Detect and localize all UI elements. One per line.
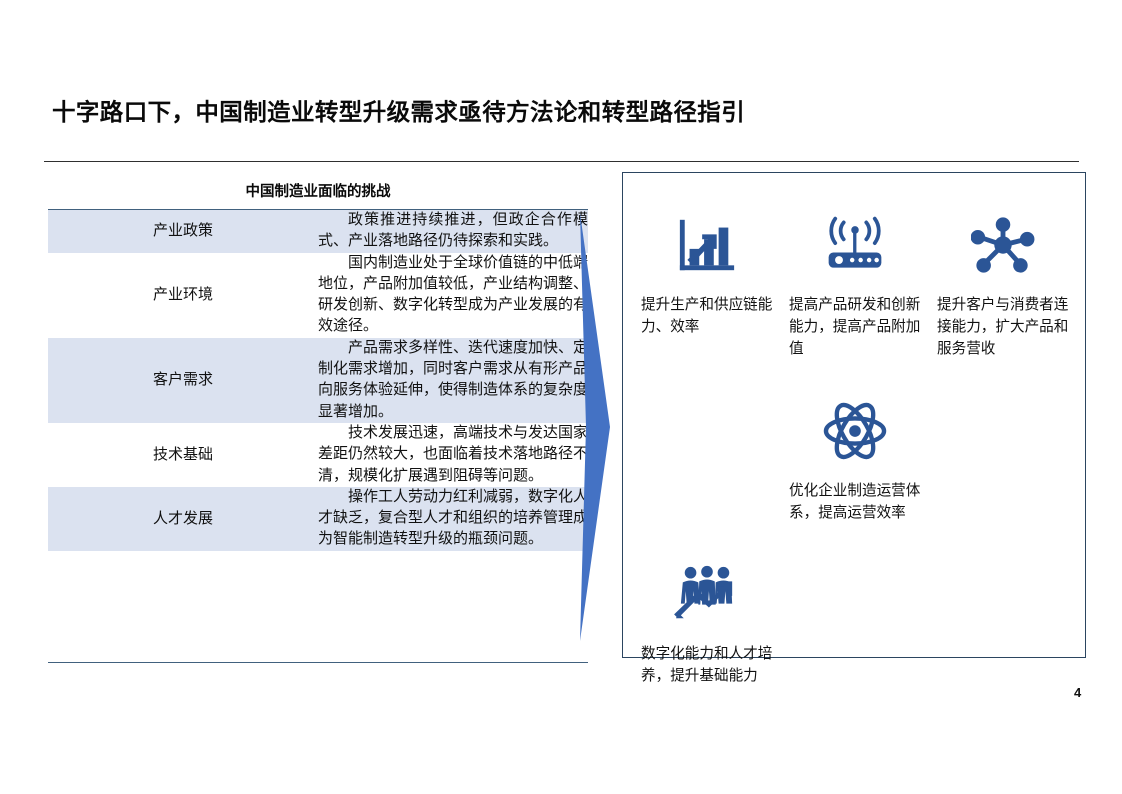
- page-number: 4: [1074, 685, 1081, 700]
- row-description: 产品需求多样性、迭代速度加快、定制化需求增加，同时客户需求从有形产品向服务体验延…: [318, 338, 588, 423]
- grid-spacer: [929, 361, 1077, 525]
- goal-label: 优化企业制造运营体系，提高运营效率: [789, 481, 921, 525]
- goal-label: 提高产品研发和创新能力，提高产品附加值: [789, 295, 921, 361]
- row-description: 政策推进持续推进，但政企合作模式、产业落地路径仍待探索和实践。: [318, 210, 588, 253]
- table-row: 客户需求 产品需求多样性、迭代速度加快、定制化需求增加，同时客户需求从有形产品向…: [48, 338, 588, 423]
- transition-arrow: [576, 213, 612, 641]
- wireless-router-icon: [789, 207, 921, 283]
- atom-icon: [789, 393, 921, 469]
- title-block: 十字路口下，中国制造业转型升级需求亟待方法论和转型路径指引: [52, 97, 842, 130]
- goal-item-operations-optimization: 优化企业制造运营体系，提高运营效率: [781, 393, 929, 525]
- row-category: 技术基础: [48, 423, 318, 487]
- network-hub-icon: [937, 207, 1069, 283]
- goal-label: 提升客户与消费者连接能力，扩大产品和服务营收: [937, 295, 1069, 361]
- table-bottom-divider: [48, 662, 588, 663]
- page-title: 十字路口下，中国制造业转型升级需求亟待方法论和转型路径指引: [52, 97, 842, 130]
- goal-item-customer-connection: 提升客户与消费者连接能力，扩大产品和服务营收: [929, 207, 1077, 361]
- row-description: 操作工人劳动力红利减弱，数字化人才缺乏，复合型人才和组织的培养管理成为智能制造转…: [318, 487, 588, 551]
- goal-label: 提升生产和供应链能力、效率: [641, 295, 773, 339]
- challenges-table: 中国制造业面临的挑战 产业政策 政策推进持续推进，但政企合作模式、产业落地路径仍…: [48, 173, 588, 551]
- bar-chart-growth-icon: [641, 207, 773, 283]
- table-body: 产业政策 政策推进持续推进，但政企合作模式、产业落地路径仍待探索和实践。 产业环…: [48, 210, 588, 551]
- goal-item-rnd-innovation: 提高产品研发和创新能力，提高产品附加值: [781, 207, 929, 361]
- table-row: 产业政策 政策推进持续推进，但政企合作模式、产业落地路径仍待探索和实践。: [48, 210, 588, 253]
- people-growth-icon: [641, 556, 773, 632]
- goal-item-talent-development: 数字化能力和人才培养，提升基础能力: [633, 556, 781, 688]
- goal-label: 数字化能力和人才培养，提升基础能力: [641, 644, 773, 688]
- table-row: 人才发展 操作工人劳动力红利减弱，数字化人才缺乏，复合型人才和组织的培养管理成为…: [48, 487, 588, 551]
- goal-item-production-supply-chain: 提升生产和供应链能力、效率: [633, 207, 781, 361]
- slide-canvas: 十字路口下，中国制造业转型升级需求亟待方法论和转型路径指引 中国制造业面临的挑战…: [0, 0, 1122, 794]
- row-category: 产业环境: [48, 253, 318, 338]
- row-description: 国内制造业处于全球价值链的中低端地位，产品附加值较低，产业结构调整、研发创新、数…: [318, 253, 588, 338]
- transformation-goals-panel: 提升生产和供应链能力、效率: [622, 172, 1086, 658]
- row-description: 技术发展迅速，高端技术与发达国家差距仍然较大，也面临着技术落地路径不清，规模化扩…: [318, 423, 588, 487]
- table-header-row: 中国制造业面临的挑战: [48, 173, 588, 210]
- table-row: 技术基础 技术发展迅速，高端技术与发达国家差距仍然较大，也面临着技术落地路径不清…: [48, 423, 588, 487]
- row-category: 人才发展: [48, 487, 318, 551]
- grid-spacer: [633, 361, 781, 525]
- table-row: 产业环境 国内制造业处于全球价值链的中低端地位，产品附加值较低，产业结构调整、研…: [48, 253, 588, 338]
- goals-grid: 提升生产和供应链能力、效率: [633, 207, 1077, 688]
- row-category: 产业政策: [48, 210, 318, 253]
- table-header-title: 中国制造业面临的挑战: [48, 173, 588, 210]
- title-divider: [44, 161, 1079, 162]
- row-category: 客户需求: [48, 338, 318, 423]
